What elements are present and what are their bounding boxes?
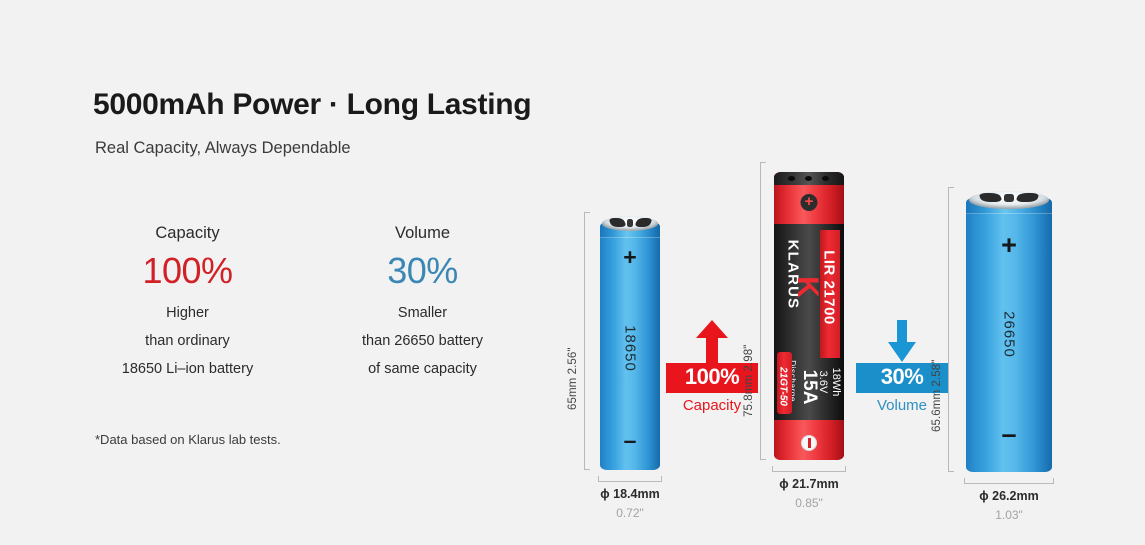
positive-terminal-18650: + bbox=[600, 246, 660, 269]
model-name-21700: LIR 21700 bbox=[821, 232, 838, 344]
height-label-26650: 65.6mm 2.58" bbox=[931, 360, 943, 432]
arrow-up-icon bbox=[695, 319, 729, 363]
battery-26650: 65.6mm 2.58" + 26650 – ɸ 26.2mm 1.03" bbox=[926, 180, 1066, 480]
height-label-21700: 75.8mm 2.98" bbox=[743, 345, 755, 417]
footnote: *Data based on Klarus lab tests. bbox=[95, 432, 281, 447]
width-bracket-18650 bbox=[598, 476, 662, 482]
vent-hole-left bbox=[788, 176, 795, 181]
energy-21700: 18Wh bbox=[830, 365, 842, 399]
wrap-label-21700: KLARUS K LIR 21700 15A Discharge 21GT-50… bbox=[774, 224, 844, 420]
stat-volume-line-1: Smaller bbox=[305, 299, 540, 327]
stat-volume-title: Volume bbox=[305, 224, 540, 242]
negative-terminal-21700 bbox=[801, 435, 817, 451]
height-bracket-21700 bbox=[760, 162, 766, 460]
diameter-mm-18650: ɸ 18.4mm bbox=[570, 487, 690, 501]
cell-bottomcap-21700 bbox=[774, 424, 844, 460]
diameter-mm-21700: ɸ 21.7mm bbox=[749, 477, 869, 491]
page-subtitle: Real Capacity, Always Dependable bbox=[95, 139, 351, 158]
height-bracket-18650 bbox=[584, 212, 590, 470]
stat-volume-line-3: of same capacity bbox=[305, 355, 540, 383]
stat-capacity-line-2: than ordinary bbox=[70, 327, 305, 355]
stat-capacity-line-3: 18650 Li–ion battery bbox=[70, 355, 305, 383]
negative-terminal-18650: – bbox=[600, 429, 660, 452]
height-label-18650: 65mm 2.56" bbox=[567, 347, 579, 410]
stat-volume-line-2: than 26650 battery bbox=[305, 327, 540, 355]
cell-body-26650: + 26650 – bbox=[966, 198, 1052, 472]
stat-capacity-value: 100% bbox=[70, 247, 305, 296]
vent-hole-center bbox=[805, 176, 812, 181]
klarus-k-logo-icon: K bbox=[792, 276, 822, 298]
width-bracket-21700 bbox=[772, 466, 846, 472]
voltage-21700: 3.6V bbox=[817, 365, 829, 399]
arrow-down-icon bbox=[887, 319, 917, 363]
diameter-in-18650: 0.72" bbox=[570, 506, 690, 520]
cell-body-21700: + KLARUS K LIR 21700 15A Discharge 21GT-… bbox=[774, 172, 844, 460]
cell-code-18650: 18650 bbox=[622, 319, 639, 379]
positive-terminal-21700: + bbox=[801, 194, 818, 211]
battery-18650: 65mm 2.56" + 18650 – ɸ 18.4mm 0.72" bbox=[562, 200, 672, 480]
cell-body-18650: + 18650 – bbox=[600, 222, 660, 470]
stats-row: Capacity 100% Higher than ordinary 18650… bbox=[70, 224, 540, 384]
brand-name-21700: KLARUS bbox=[785, 239, 802, 311]
negative-terminal-26650: – bbox=[966, 421, 1052, 448]
page-title: 5000mAh Power · Long Lasting bbox=[93, 88, 531, 122]
vent-hole-right bbox=[822, 176, 829, 181]
stat-capacity-title: Capacity bbox=[70, 224, 305, 242]
product-code-21700: 21GT-50 bbox=[778, 365, 789, 409]
battery-21700: 75.8mm 2.98" + KLARUS K LIR 21700 15A Di… bbox=[738, 160, 862, 480]
stat-volume-value: 30% bbox=[305, 247, 540, 296]
top-contact-disc-18650 bbox=[602, 216, 658, 231]
top-contact-disc-26650 bbox=[969, 191, 1049, 209]
height-bracket-26650 bbox=[948, 187, 954, 472]
diameter-mm-26650: ɸ 26.2mm bbox=[949, 489, 1069, 503]
width-bracket-26650 bbox=[964, 478, 1054, 484]
top-vent-notch-18650 bbox=[627, 219, 634, 227]
positive-terminal-26650: + bbox=[966, 232, 1052, 259]
top-vent-notch-26650 bbox=[1004, 194, 1014, 202]
cell-code-26650: 26650 bbox=[1001, 292, 1018, 378]
battery-comparison-scene: 65mm 2.56" + 18650 – ɸ 18.4mm 0.72" 100%… bbox=[548, 0, 1145, 545]
diameter-in-26650: 1.03" bbox=[949, 508, 1069, 522]
stat-capacity-line-1: Higher bbox=[70, 299, 305, 327]
stat-capacity: Capacity 100% Higher than ordinary 18650… bbox=[70, 224, 305, 384]
cell-topcap-21700 bbox=[774, 172, 844, 185]
diameter-in-21700: 0.85" bbox=[749, 496, 869, 510]
stat-volume: Volume 30% Smaller than 26650 battery of… bbox=[305, 224, 540, 384]
